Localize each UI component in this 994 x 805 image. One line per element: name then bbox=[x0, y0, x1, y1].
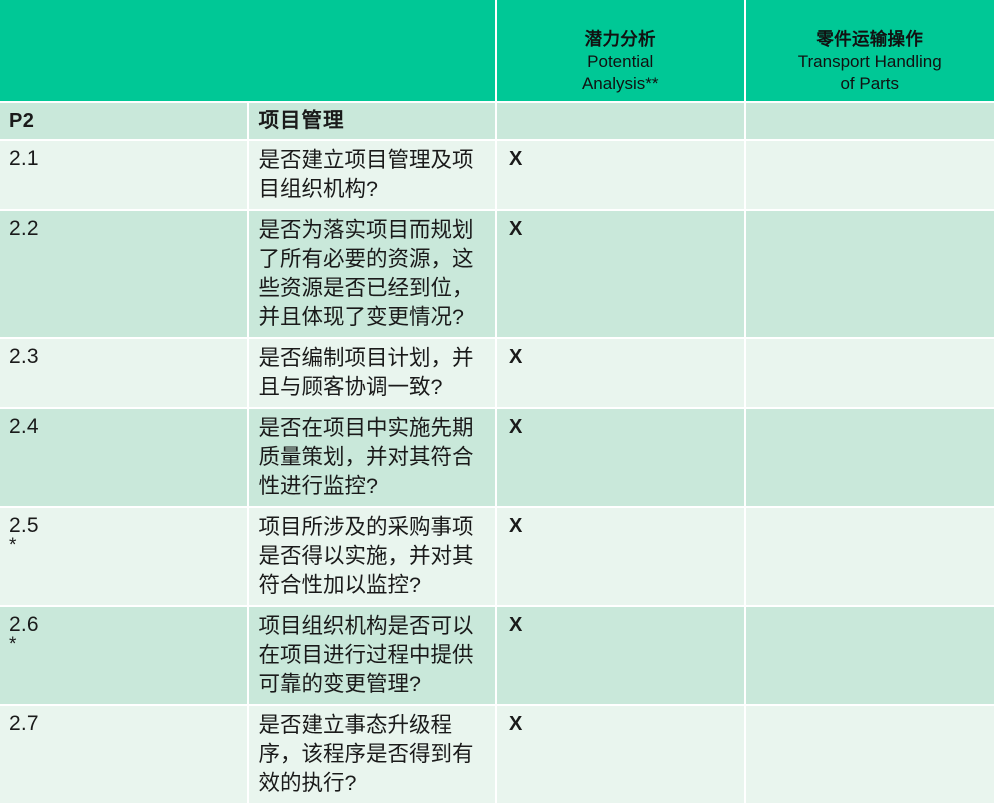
row-number-cell: 2.1 bbox=[0, 141, 249, 211]
mark-cell[interactable] bbox=[746, 211, 994, 339]
table-row: 2.1是否建立项目管理及项目组织机构?X bbox=[0, 141, 994, 211]
table-row: 2.4是否在项目中实施先期质量策划，并对其符合性进行监控?X bbox=[0, 409, 994, 508]
row-number: 2.3 bbox=[9, 345, 39, 368]
question-text-cell: 是否在项目中实施先期质量策划，并对其符合性进行监控? bbox=[249, 409, 498, 508]
audit-matrix-table: 潜力分析 Potential Analysis** 零件运输操作 Transpo… bbox=[0, 0, 994, 805]
row-number: P2 bbox=[9, 110, 34, 132]
question-text-cell: 是否编制项目计划，并且与顾客协调一致? bbox=[249, 339, 498, 409]
row-number: 2.2 bbox=[9, 217, 39, 240]
question-text-cell: 是否为落实项目而规划了所有必要的资源，这些资源是否已经到位，并且体现了变更情况? bbox=[249, 211, 498, 339]
mark-cell[interactable] bbox=[746, 607, 994, 706]
row-number-cell: 2.2 bbox=[0, 211, 249, 339]
row-number: 2.1 bbox=[9, 147, 39, 170]
header-en-transport-handling-line2: of Parts bbox=[752, 73, 989, 95]
mark-cell[interactable] bbox=[746, 508, 994, 607]
table-row: 2.6*项目组织机构是否可以在项目进行过程中提供可靠的变更管理?X bbox=[0, 607, 994, 706]
table-section-row: P2项目管理 bbox=[0, 103, 994, 141]
table-row: 2.5*项目所涉及的采购事项是否得以实施，并对其符合性加以监控?X bbox=[0, 508, 994, 607]
row-number-cell: 2.3 bbox=[0, 339, 249, 409]
mark-cell[interactable] bbox=[746, 103, 994, 141]
header-cell-potential-analysis: 潜力分析 Potential Analysis** bbox=[497, 0, 746, 103]
mark-cell[interactable] bbox=[746, 141, 994, 211]
table-row: 2.3是否编制项目计划，并且与顾客协调一致?X bbox=[0, 339, 994, 409]
row-number-cell: 2.5* bbox=[0, 508, 249, 607]
table-body: P2项目管理2.1是否建立项目管理及项目组织机构?X2.2是否为落实项目而规划了… bbox=[0, 103, 994, 805]
mark-cell[interactable]: X bbox=[497, 607, 746, 706]
table-header: 潜力分析 Potential Analysis** 零件运输操作 Transpo… bbox=[0, 0, 994, 103]
table-row: 2.7是否建立事态升级程序，该程序是否得到有效的执行?X bbox=[0, 706, 994, 805]
question-text-cell: 是否建立事态升级程序，该程序是否得到有效的执行? bbox=[249, 706, 498, 805]
row-asterisk-marker: * bbox=[9, 636, 245, 653]
header-cn-transport-handling: 零件运输操作 bbox=[752, 28, 989, 51]
question-text-cell: 项目组织机构是否可以在项目进行过程中提供可靠的变更管理? bbox=[249, 607, 498, 706]
mark-cell[interactable] bbox=[497, 103, 746, 141]
header-cell-question bbox=[0, 0, 497, 103]
mark-cell[interactable] bbox=[746, 706, 994, 805]
row-number-cell: P2 bbox=[0, 103, 249, 141]
mark-cell[interactable]: X bbox=[497, 706, 746, 805]
section-title-cell: 项目管理 bbox=[249, 103, 498, 141]
row-number: 2.6 bbox=[9, 613, 39, 636]
mark-cell[interactable]: X bbox=[497, 409, 746, 508]
row-number: 2.5 bbox=[9, 514, 39, 537]
audit-matrix-table-sheet: 潜力分析 Potential Analysis** 零件运输操作 Transpo… bbox=[0, 0, 994, 656]
table-row: 2.2是否为落实项目而规划了所有必要的资源，这些资源是否已经到位，并且体现了变更… bbox=[0, 211, 994, 339]
header-en-potential-analysis-line1: Potential bbox=[503, 51, 738, 73]
row-asterisk-marker: * bbox=[9, 537, 245, 554]
row-number: 2.7 bbox=[9, 712, 39, 735]
header-cn-potential-analysis: 潜力分析 bbox=[503, 28, 738, 51]
mark-cell[interactable] bbox=[746, 339, 994, 409]
header-en-potential-analysis-line2: Analysis** bbox=[503, 73, 738, 95]
header-en-transport-handling-line1: Transport Handling bbox=[752, 51, 989, 73]
mark-cell[interactable]: X bbox=[497, 339, 746, 409]
question-text-cell: 是否建立项目管理及项目组织机构? bbox=[249, 141, 498, 211]
row-number-cell: 2.6* bbox=[0, 607, 249, 706]
header-row: 潜力分析 Potential Analysis** 零件运输操作 Transpo… bbox=[0, 0, 994, 103]
row-number: 2.4 bbox=[9, 415, 39, 438]
header-cell-transport-handling: 零件运输操作 Transport Handling of Parts bbox=[746, 0, 994, 103]
question-text-cell: 项目所涉及的采购事项是否得以实施，并对其符合性加以监控? bbox=[249, 508, 498, 607]
mark-cell[interactable] bbox=[746, 409, 994, 508]
row-number-cell: 2.7 bbox=[0, 706, 249, 805]
mark-cell[interactable]: X bbox=[497, 508, 746, 607]
row-number-cell: 2.4 bbox=[0, 409, 249, 508]
mark-cell[interactable]: X bbox=[497, 211, 746, 339]
mark-cell[interactable]: X bbox=[497, 141, 746, 211]
